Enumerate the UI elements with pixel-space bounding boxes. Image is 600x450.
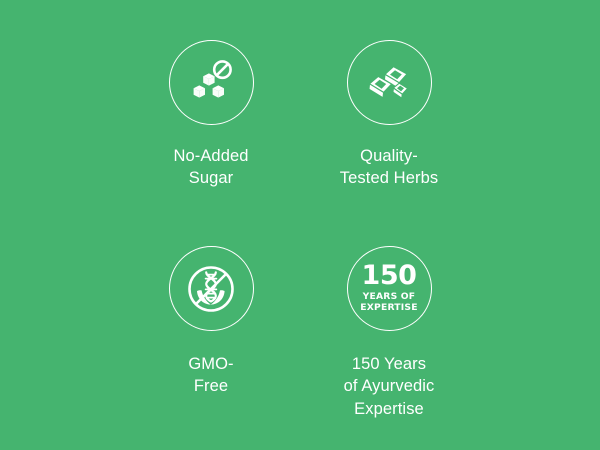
icon-ring [169,40,254,125]
badge-caption: Quality- Tested Herbs [340,145,438,190]
icon-ring [347,40,432,125]
badge-caption: No-Added Sugar [173,145,248,190]
years-badge-subtitle: YEARS OF EXPERTISE [360,292,417,314]
badge-caption: 150 Years of Ayurvedic Expertise [344,353,435,420]
years-of-expertise-badge: 150 YEARS OF EXPERTISE [360,263,417,313]
badge-grid: No-Added Sugar [0,0,600,450]
badge-item-gmo-free[interactable]: GMO- Free [122,231,300,422]
quality-tested-herbs-icon [363,57,415,109]
badge-item-no-added-sugar[interactable]: No-Added Sugar [122,40,300,231]
icon-ring: 150 YEARS OF EXPERTISE [347,246,432,331]
years-badge-number: 150 [362,263,417,289]
badge-item-years-of-expertise[interactable]: 150 YEARS OF EXPERTISE 150 Years of Ayur… [300,231,478,422]
badge-item-quality-tested-herbs[interactable]: Quality- Tested Herbs [300,40,478,231]
gmo-free-icon [183,261,239,317]
no-added-sugar-icon [185,57,237,109]
product-benefits-panel: No-Added Sugar [0,0,600,450]
badge-caption: GMO- Free [188,353,233,398]
icon-ring [169,246,254,331]
